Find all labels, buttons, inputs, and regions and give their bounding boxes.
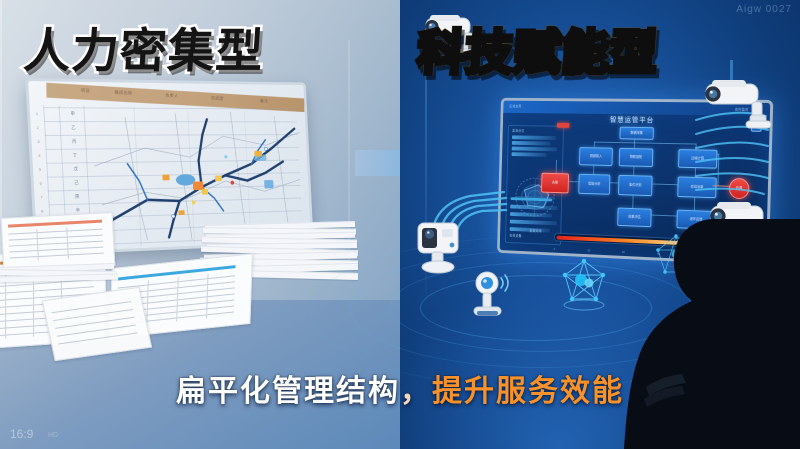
watermark-aspect-ratio: 16:9 xyxy=(10,427,33,441)
table-row-number: 1 xyxy=(36,111,38,116)
title-right: 科技赋能型 xyxy=(416,14,661,83)
caption-part-two: 提升服务效能 xyxy=(432,375,624,408)
table-row-number: 7 xyxy=(40,195,42,200)
caption-part-one: 扁平化管理结构 xyxy=(176,375,400,408)
table-header-cell: 路段名称 xyxy=(115,90,133,97)
table-cell: 甲 xyxy=(70,111,75,117)
observer-silhouette xyxy=(616,219,800,449)
side-panel-footer-label: 在线设备 xyxy=(509,233,521,238)
table-cell: 丁 xyxy=(73,153,78,159)
table-header-cell: 备注 xyxy=(260,99,268,105)
progress-tick: 20 xyxy=(587,249,590,252)
flow-node[interactable]: 智能分析 xyxy=(578,174,610,195)
table-row-number: 5 xyxy=(39,167,41,172)
progress-tick: 0 xyxy=(554,248,555,251)
table-header-cell: 负责人 xyxy=(165,93,178,99)
caption-bar: 扁平化管理结构，提升服务效能 xyxy=(0,366,800,410)
table-header-cell: 项目 xyxy=(81,88,90,94)
table-cell: 辛 xyxy=(76,208,81,214)
table-header-cell: 完成度 xyxy=(211,96,224,102)
table-cell: 庚 xyxy=(75,194,80,200)
caption-comma: ， xyxy=(400,375,432,408)
table-row-number: 8 xyxy=(41,209,43,214)
alert-indicator xyxy=(557,123,570,128)
table-row-number: 3 xyxy=(37,139,39,144)
dashboard-system-label: 区域态势 xyxy=(509,103,521,108)
flow-node[interactable]: 数据采集 xyxy=(619,127,653,140)
flow-node-alert[interactable]: 告警 xyxy=(541,173,569,194)
table-row-number: 2 xyxy=(37,125,39,130)
progress-label: 处置效率 xyxy=(530,228,542,233)
table-cell: 戊 xyxy=(73,166,78,172)
paper-document-stacks[interactable] xyxy=(0,215,350,385)
flow-node[interactable]: 物联感知 xyxy=(619,148,654,167)
side-panel-title: 监测点位 xyxy=(512,128,524,133)
dashboard-title: 智慧运管平台 xyxy=(610,115,654,125)
network-node-sphere-1 xyxy=(555,255,613,313)
iot-sensor-beacon[interactable] xyxy=(460,268,524,332)
poster-canvas: 项目 路段名称 负责人 完成度 备注 1 xyxy=(0,0,800,449)
table-cell: 乙 xyxy=(71,125,76,131)
table-cell: 丙 xyxy=(72,139,77,145)
title-left-text: 人力密集型 xyxy=(22,24,266,77)
cctv-camera-top-right[interactable] xyxy=(700,78,792,144)
document-sheet xyxy=(42,287,152,361)
title-left: 人力密集型 xyxy=(22,12,267,81)
flow-node[interactable]: 事件识别 xyxy=(618,175,653,196)
table-cell: 己 xyxy=(74,180,79,186)
flow-node[interactable]: 视频接入 xyxy=(579,147,613,166)
watermark-top-right: Aigw 0027 xyxy=(736,4,792,15)
table-row-number: 4 xyxy=(38,153,40,158)
table-row-number: 6 xyxy=(40,181,42,186)
watermark-quality: HD xyxy=(48,432,58,439)
